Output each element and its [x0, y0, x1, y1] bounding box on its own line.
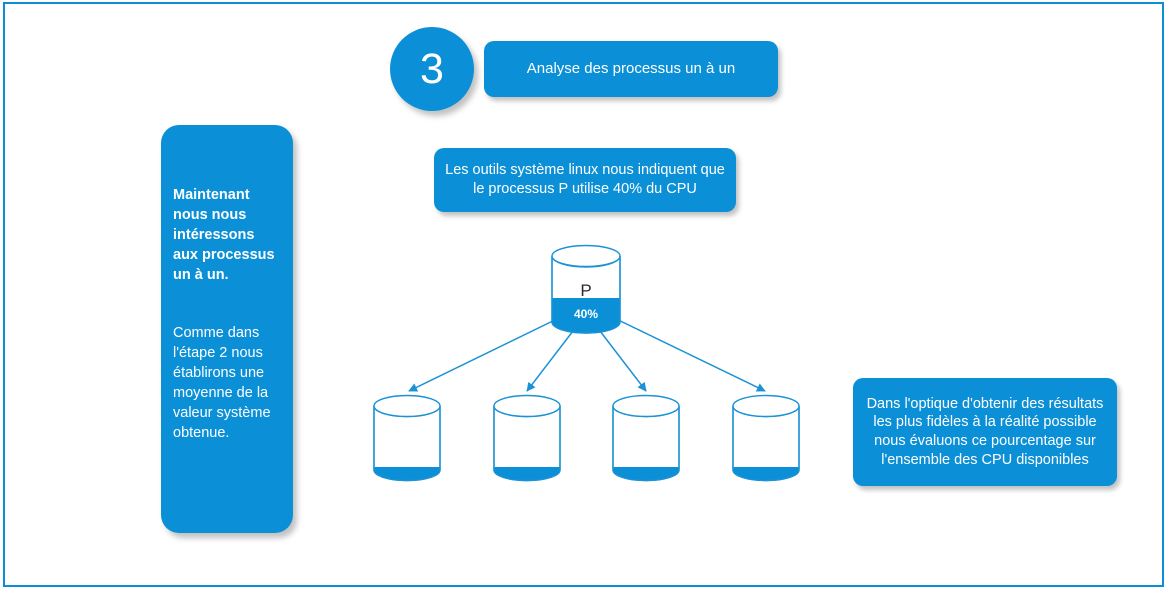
arrow-to-child-3 — [600, 331, 646, 391]
arrow-to-child-4 — [610, 316, 765, 391]
slide-canvas: 3 Analyse des processus un à un Maintena… — [0, 0, 1169, 592]
cylinder-cpu-4: 10% — [732, 395, 800, 481]
callout-right-box: Dans l'optique d'obtenir des résultats l… — [853, 378, 1117, 486]
sidebar-panel: Maintenant nous nous intéressons aux pro… — [161, 125, 293, 533]
step-number-badge: 3 — [390, 27, 474, 111]
sidebar-paragraph-bold: Maintenant nous nous intéressons aux pro… — [173, 185, 283, 285]
cylinder-process-p: P 40% — [551, 245, 621, 333]
cylinder-fill-main — [551, 298, 621, 338]
arrow-to-child-2 — [527, 331, 573, 391]
step-number-text: 3 — [420, 45, 444, 94]
callout-right-text: Dans l'optique d'obtenir des résultats l… — [861, 395, 1109, 469]
callout-top-text: Les outils système linux nous indiquent … — [440, 161, 730, 198]
arrow-to-child-1 — [409, 316, 563, 391]
cylinder-cpu-1: 10% — [373, 395, 441, 481]
cylinder-cpu-3: 10% — [612, 395, 680, 481]
cylinder-cpu-2: 10% — [493, 395, 561, 481]
sidebar-paragraph-regular: Comme dans l'étape 2 nous établirons une… — [173, 323, 283, 443]
step-title-text: Analyse des processus un à un — [527, 59, 735, 78]
step-title-bar: Analyse des processus un à un — [484, 41, 778, 97]
callout-top-box: Les outils système linux nous indiquent … — [434, 148, 736, 212]
